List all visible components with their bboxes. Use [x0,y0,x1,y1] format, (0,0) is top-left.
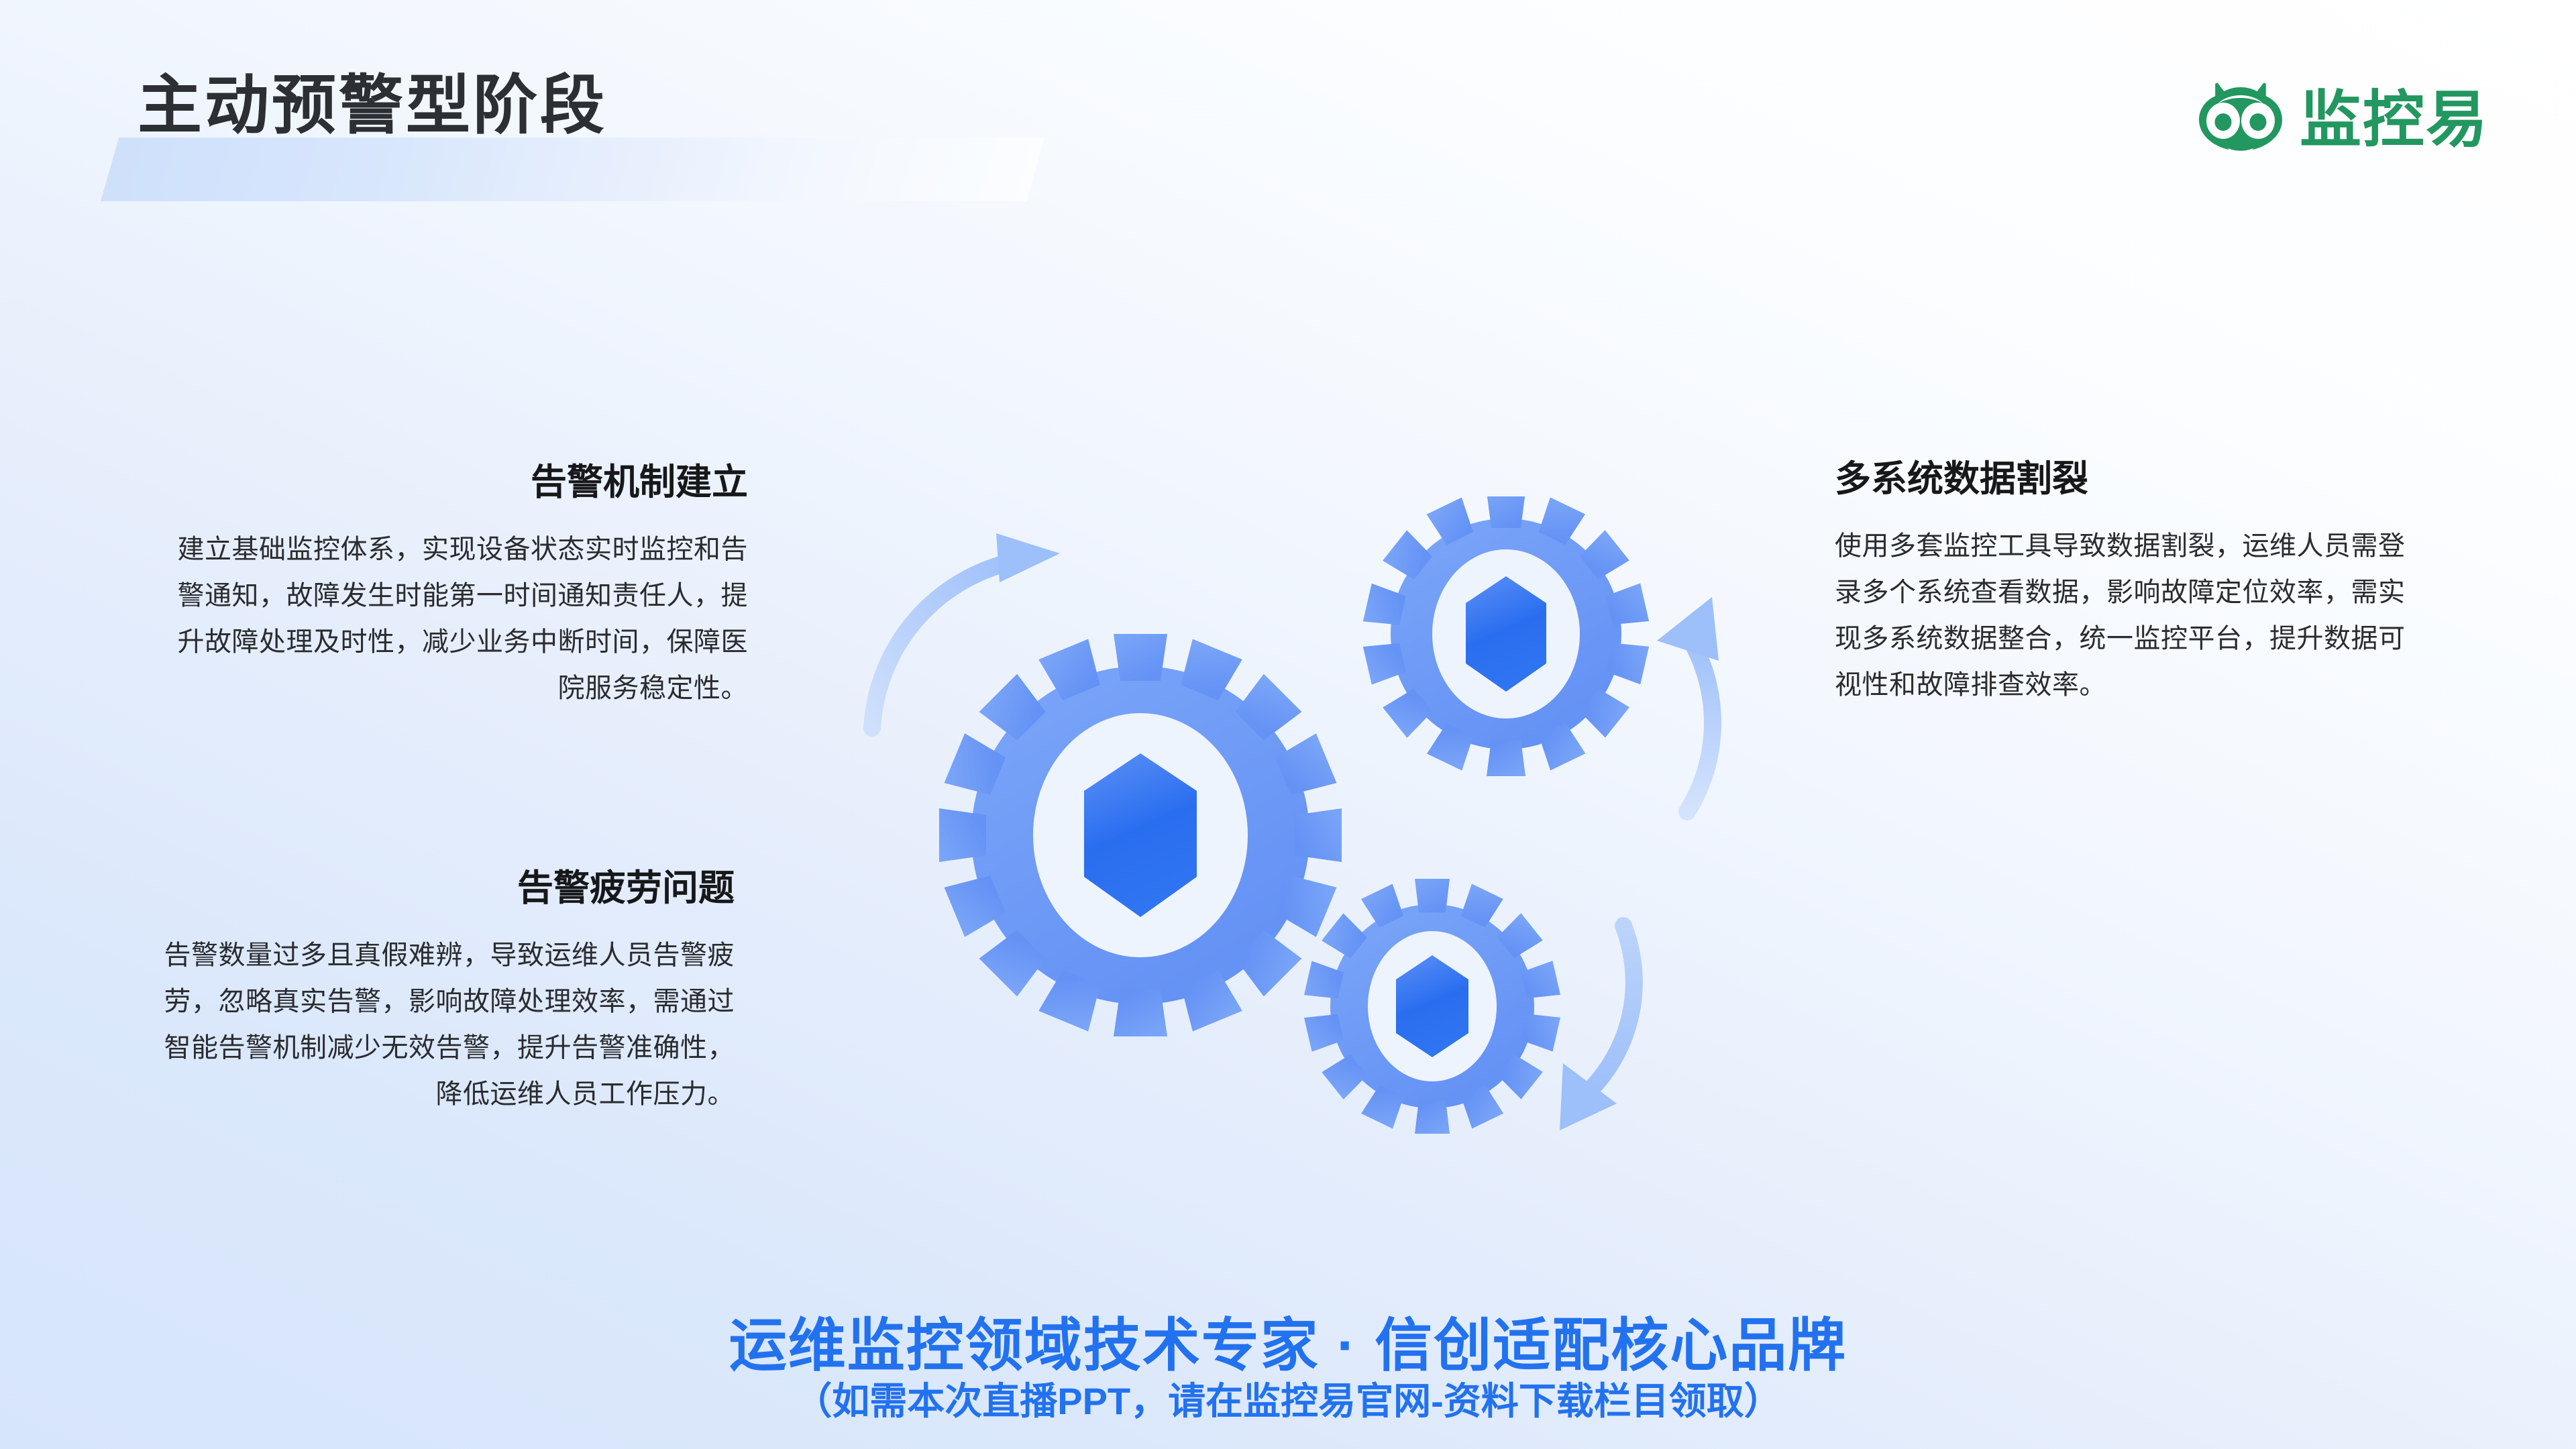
logo-text: 监控易 [2300,89,2489,151]
block-body: 建立基础监控体系，实现设备状态实时监控和告警通知，故障发生时能第一时间通知责任人… [158,527,748,711]
block-body: 使用多套监控工具导致数据割裂，运维人员需登录多个系统查看数据，影响故障定位效率，… [1835,523,2425,708]
rotation-arrow-bottom [1560,926,1634,1130]
footer-subtext: （如需本次直播PPT，请在监控易官网-资料下载栏目领取） [0,1379,2576,1424]
slide-canvas: 主动预警型阶段 监控易 告警机制建立 建立基础监控体系，实现设备状态实时监控和告… [0,0,2576,1449]
block-heading: 告警机制建立 [158,463,748,502]
content-block-alert-fatigue: 告警疲劳问题 告警数量过多且真假难辨，导致运维人员告警疲劳，忽略真实告警，影响故… [144,869,735,1118]
owl-icon [2198,80,2284,160]
content-block-alert-mechanism: 告警机制建立 建立基础监控体系，实现设备状态实时监控和告警通知，故障发生时能第一… [158,463,748,712]
gear-small [1304,879,1560,1134]
title-banner [101,138,1044,201]
gear-large [939,634,1342,1036]
brand-logo: 监控易 [2198,80,2489,160]
block-heading: 告警疲劳问题 [144,869,735,908]
block-body: 告警数量过多且真假难辨，导致运维人员告警疲劳，忽略真实告警，影响故障处理效率，需… [144,932,735,1117]
gears-illustration [852,496,1764,1181]
content-block-data-silos: 多系统数据割裂 使用多套监控工具导致数据割裂，运维人员需登录多个系统查看数据，影… [1835,460,2425,708]
gear-medium [1363,496,1649,776]
footer: 运维监控领域技术专家 · 信创适配核心品牌 （如需本次直播PPT，请在监控易官网… [0,1313,2576,1424]
footer-headline: 运维监控领域技术专家 · 信创适配核心品牌 [0,1313,2576,1378]
rotation-arrow-right [1657,597,1719,812]
page-title: 主动预警型阶段 [138,74,607,138]
block-heading: 多系统数据割裂 [1835,460,2425,499]
